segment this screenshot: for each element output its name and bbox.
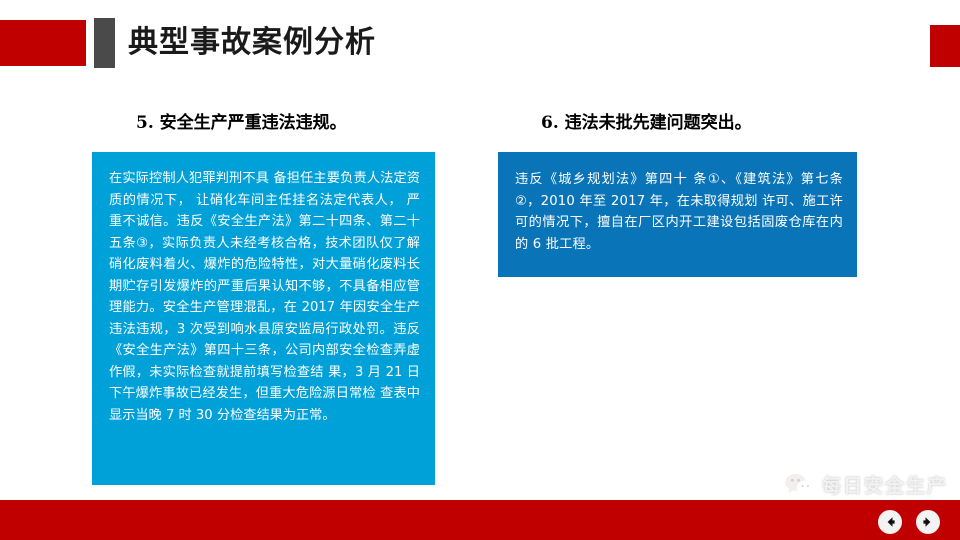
section-heading-5: 5. 安全生产严重违法违规。	[136, 108, 347, 133]
wechat-icon	[785, 472, 815, 498]
header-accent-red-left	[0, 20, 86, 66]
header-accent-red-right	[930, 25, 960, 67]
watermark: 每日安全生产	[785, 471, 948, 498]
content-box-5: 在实际控制人犯罪判刑不具 备担任主要负责人法定资质的情况下， 让硝化车间主任挂名…	[92, 152, 435, 485]
nav-arrows	[878, 510, 940, 534]
arrow-left-icon	[883, 515, 897, 529]
content-body-5: 在实际控制人犯罪判刑不具 备担任主要负责人法定资质的情况下， 让硝化车间主任挂名…	[109, 168, 420, 426]
section-heading-6: 6. 违法未批先建问题突出。	[541, 108, 752, 133]
content-box-6: 违反《城乡规划法》第四十 条①、《建筑法》第七条②，2010 年至 2017 年…	[498, 152, 857, 277]
footer-bar	[0, 500, 960, 540]
header-accent-gray-bar	[94, 18, 115, 68]
next-slide-button[interactable]	[916, 510, 940, 534]
page-title: 典型事故案例分析	[128, 22, 376, 64]
prev-slide-button[interactable]	[878, 510, 902, 534]
arrow-right-icon	[921, 515, 935, 529]
content-body-6: 违反《城乡规划法》第四十 条①、《建筑法》第七条②，2010 年至 2017 年…	[515, 169, 843, 255]
watermark-text: 每日安全生产	[822, 471, 948, 498]
